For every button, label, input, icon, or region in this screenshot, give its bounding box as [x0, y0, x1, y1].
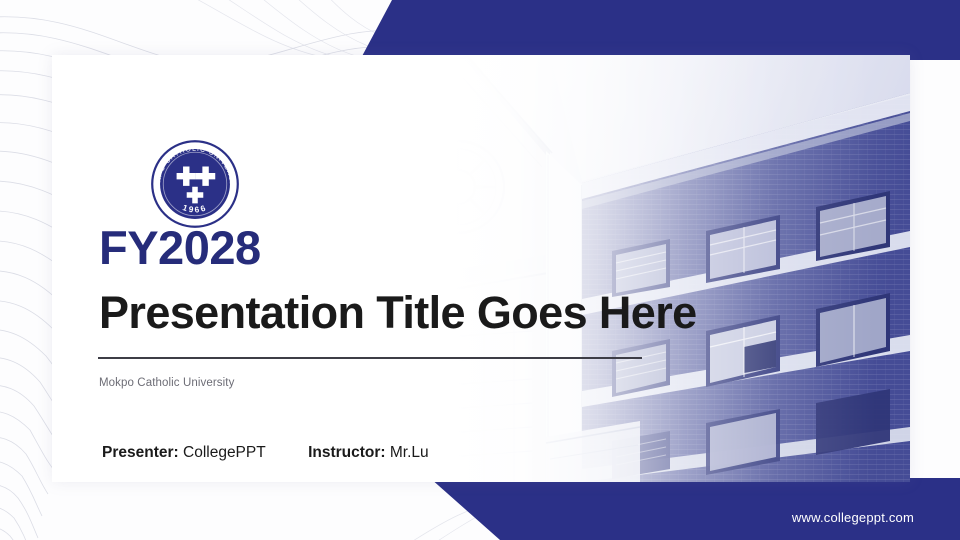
credits-line: Presenter: CollegePPT Instructor: Mr.Lu — [102, 444, 429, 462]
presenter-label: Presenter: — [102, 444, 179, 461]
organization-name: Mokpo Catholic University — [99, 377, 234, 389]
instructor-name: Mr.Lu — [390, 444, 429, 461]
website-url[interactable]: www.collegeppt.com — [792, 510, 914, 525]
presenter-name: CollegePPT — [183, 444, 265, 461]
page-title: Presentation Title Goes Here — [99, 289, 697, 337]
presentation-slide: MOKPO CATHOLIC UNIVERSITY 1966 FY2028 Pr… — [0, 0, 960, 540]
fiscal-year-heading: FY2028 — [99, 224, 261, 271]
title-divider — [98, 357, 642, 359]
slide-text-layer: FY2028 Presentation Title Goes Here Mokp… — [0, 0, 960, 540]
instructor-label: Instructor: — [308, 444, 386, 461]
